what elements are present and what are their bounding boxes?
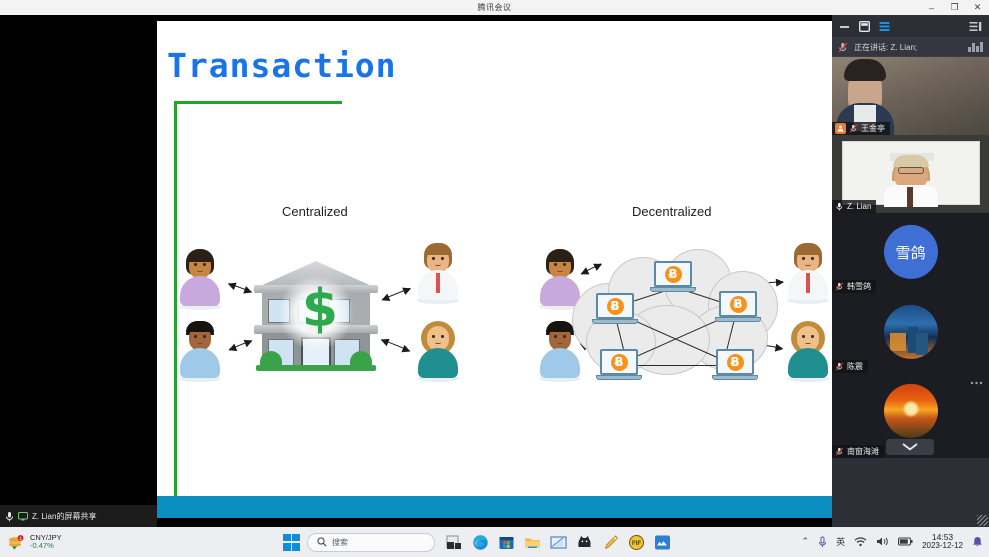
chevron-down-icon [902,443,918,451]
monitor-icon [18,512,28,521]
presentation-slide: Transaction Centralized Decentralized [157,21,832,518]
participant-tile[interactable]: 王金亭 [832,57,989,135]
list-view-icon[interactable] [879,21,890,32]
centralized-label: Centralized [282,204,348,219]
mic-muted-icon [838,42,848,53]
mic-muted-icon [835,362,844,371]
participant-name: 南窗海滩 [847,446,879,457]
bitcoin-icon: Ƀ [730,296,747,313]
clock-date: 2023-12-12 [922,542,963,551]
taskbar-clock[interactable]: 14:53 2023-12-12 [922,533,963,551]
edge-icon[interactable] [472,534,489,551]
network-node: Ƀ [715,291,761,325]
network-node: Ƀ [596,349,642,383]
person-avatar [177,321,223,381]
audio-wave-icon [968,42,983,52]
person-avatar [415,243,461,303]
search-placeholder: 搜索 [332,537,348,548]
slide-accent-horizontal [174,101,342,104]
avatar [884,384,938,438]
task-view-icon[interactable] [446,534,463,551]
mic-muted-icon [835,282,844,291]
restore-button[interactable]: ❐ [943,0,966,15]
participant-tile[interactable]: 南窗海滩 [832,373,989,458]
search-input[interactable]: 搜索 [307,533,435,552]
participant-name: 韩雪鸽 [847,281,871,292]
microphone-icon [5,511,14,522]
microsoft-store-icon[interactable] [498,534,515,551]
wifi-icon[interactable] [854,536,867,547]
chevron-up-icon[interactable]: ⌃ [802,536,810,547]
connection-arrow [229,283,252,292]
participant-nametag: 陈震 [832,360,868,373]
person-avatar [177,249,223,309]
shared-screen-stage: Transaction Centralized Decentralized [0,15,832,527]
file-explorer-icon[interactable] [524,534,541,551]
battery-icon[interactable] [898,537,913,546]
pencil-app-icon[interactable] [602,534,619,551]
gallery-view-icon[interactable] [859,21,870,32]
mic-icon [835,202,844,211]
windows-taskbar: 1 CNY/JPY -0.47% 搜索 [0,527,989,557]
avatar-initials: 雪鸽 [895,241,925,262]
notification-bell-icon[interactable] [972,536,983,548]
more-dots-icon[interactable] [969,381,983,391]
taskbar-stock-widget[interactable]: 1 CNY/JPY -0.47% [0,534,180,550]
layout-expand-icon[interactable] [969,21,982,32]
bitcoin-icon: Ƀ [727,354,744,371]
volume-icon[interactable] [876,536,889,547]
coins-icon: 1 [8,535,25,550]
screen-share-label: Z. Lian的屏幕共享 [32,511,96,522]
bank-building-icon: $ [254,261,378,371]
microphone-icon[interactable] [818,536,827,548]
search-icon [317,537,327,547]
host-badge-icon [835,123,846,134]
window-title-bar: 腾讯会议 – ❐ ✕ [0,0,989,15]
participant-nametag: 韩雪鸽 [832,280,876,293]
resize-grip-icon[interactable] [977,515,988,526]
ime-indicator[interactable]: 英 [836,535,845,548]
meeting-participants-panel: 正在讲话: Z. Lian; 王金亭 [832,15,989,527]
slide-title: Transaction [167,46,397,85]
decentralized-network-cloud: Ƀ Ƀ Ƀ Ƀ Ƀ [572,249,782,379]
connection-arrow [382,288,410,300]
close-button[interactable]: ✕ [966,0,989,15]
panel-toolbar [832,15,989,37]
person-avatar [415,321,461,381]
app-title: 腾讯会议 [478,2,512,13]
snipping-tool-icon[interactable] [550,534,567,551]
connection-arrow [229,340,252,350]
bitcoin-icon: Ƀ [665,266,682,283]
dollar-sign-icon: $ [300,283,340,335]
screen-share-indicator: Z. Lian的屏幕共享 [0,505,157,527]
minimize-button[interactable]: – [920,0,943,15]
fif-app-icon[interactable]: FIF [628,534,645,551]
participant-name: 陈震 [847,361,863,372]
taskbar-center-group: 搜索 FIF [283,533,671,552]
bitcoin-icon: Ƀ [607,298,624,315]
mountain-app-icon[interactable] [654,534,671,551]
active-speaker-bar: 正在讲话: Z. Lian; [832,37,989,57]
network-node: Ƀ [592,293,638,327]
system-tray: ⌃ 英 14:53 2023-12-12 [802,533,983,551]
taskbar-app-icons: FIF [446,534,671,551]
participant-name: Z. Lian [847,202,871,211]
participant-tile[interactable]: 陈震 [832,293,989,373]
window-controls: – ❐ ✕ [920,0,989,15]
decentralized-label: Decentralized [632,204,712,219]
expand-panel-button[interactable] [886,439,934,455]
participant-name: 王金亭 [861,123,885,134]
participant-nametag: 王金亭 [832,122,890,135]
minimize-icon[interactable] [839,21,850,32]
windows-start-icon[interactable] [283,534,300,551]
bitcoin-icon: Ƀ [611,354,628,371]
avatar [884,305,938,359]
black-cat-app-icon[interactable] [576,534,593,551]
connection-arrow [382,339,410,351]
active-speaker-text: 正在讲话: Z. Lian; [854,42,917,53]
stock-change: -0.47% [30,542,62,550]
avatar: 雪鸽 [884,225,938,279]
person-avatar [785,321,831,381]
network-node: Ƀ [650,261,696,295]
mic-muted-icon [835,447,844,456]
participant-tile[interactable]: Z. Lian [832,135,989,213]
mic-muted-icon [849,124,858,133]
person-avatar [785,243,831,303]
participant-nametag: 南窗海滩 [832,445,884,458]
slide-bottom-band [157,496,832,518]
participant-tile[interactable]: 雪鸽 韩雪鸽 [832,213,989,293]
network-node: Ƀ [712,349,758,383]
svg-text:FIF: FIF [632,541,641,547]
participant-nametag: Z. Lian [832,200,876,213]
